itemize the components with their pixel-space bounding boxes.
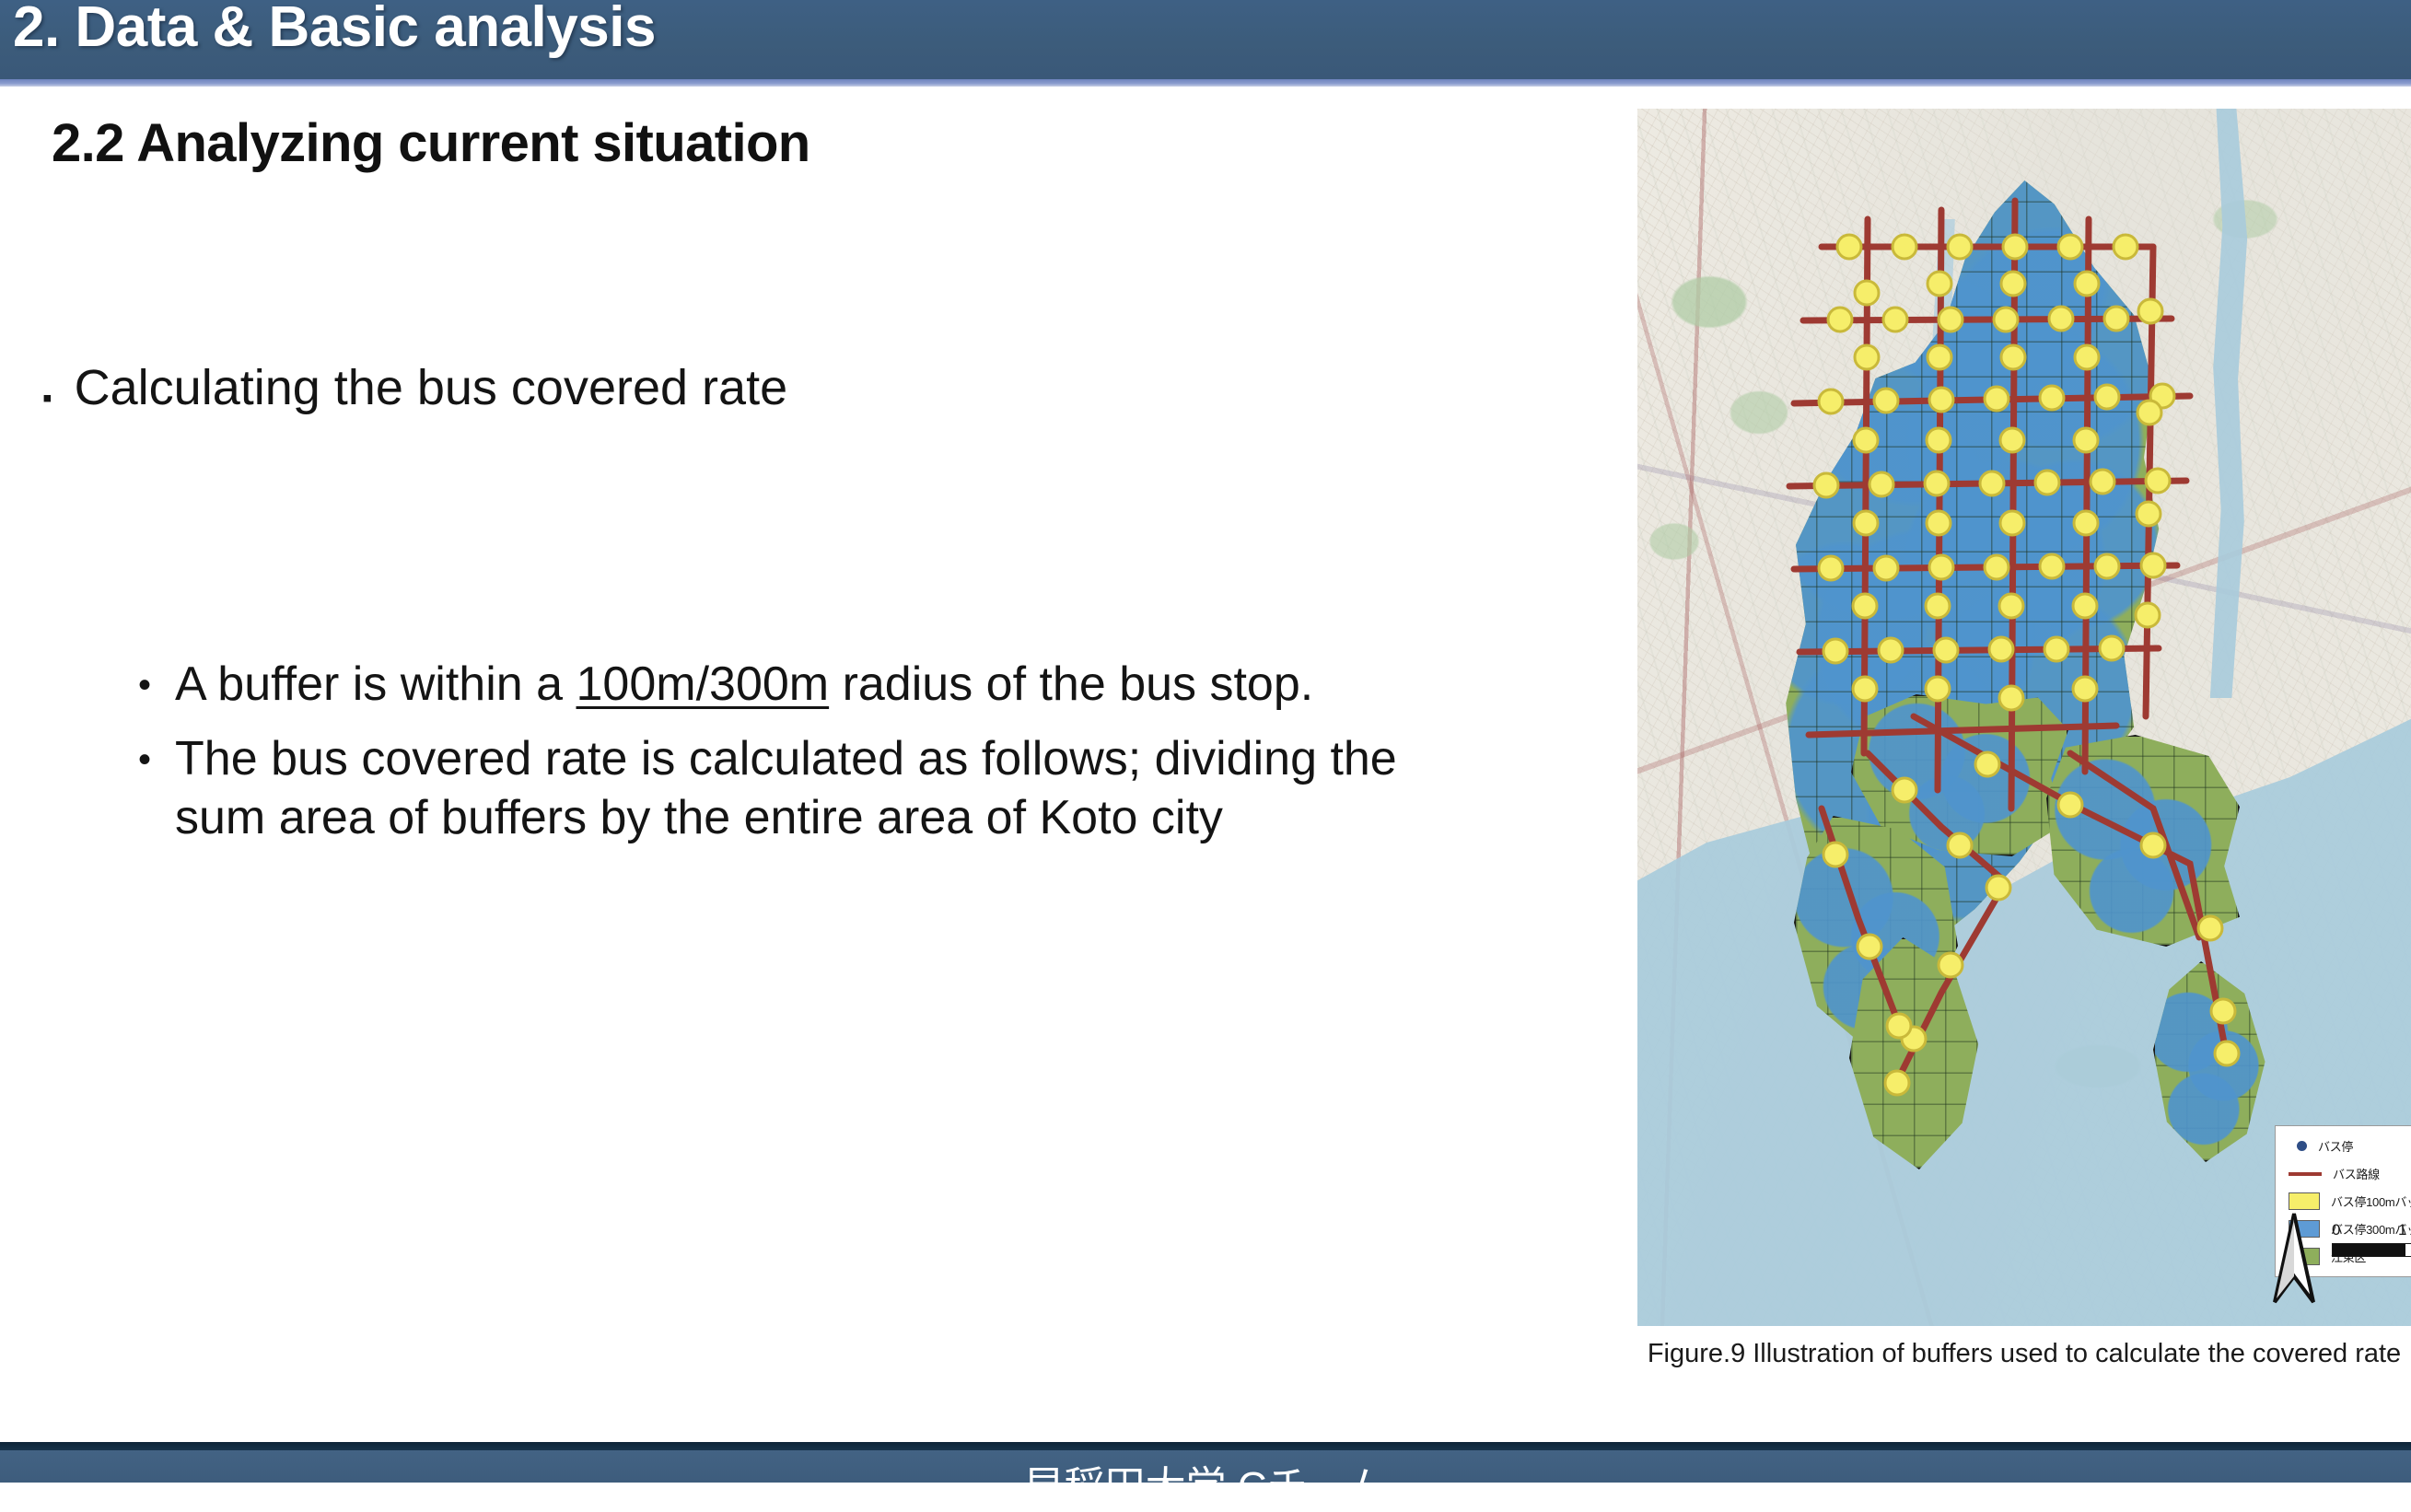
list-item: • The bus covered rate is calculated as … [138, 730, 1575, 847]
buffer-100m-swatch-icon [2289, 1192, 2320, 1210]
footer-label: 早稲田大学 Cチーム [0, 1453, 2411, 1512]
map-canvas: バス停 バス路線 バス停100mバッファ バス停300mバッファ 江東区 [1637, 109, 2411, 1326]
square-bullet-icon: ▪ [42, 385, 52, 413]
bus-route-line-icon [2289, 1172, 2322, 1176]
bullet-level1: ▪ Calculating the bus covered rate [42, 359, 787, 418]
north-arrow-icon [2273, 1210, 2315, 1306]
list-item: • A buffer is within a 100m/300m radius … [138, 656, 1575, 714]
header-accent-line [0, 79, 2411, 87]
sub-bullet-2-label: The bus covered rate is calculated as fo… [175, 730, 1492, 847]
map-scale-bar: 0 1 2 [2332, 1221, 2411, 1257]
sub-bullet-list: • A buffer is within a 100m/300m radius … [138, 656, 1575, 864]
bullet-level1-label: Calculating the bus covered rate [75, 359, 787, 418]
legend-label: バス路線 [2333, 1165, 2380, 1182]
legend-item-buffer-100m: バス停100mバッファ [2289, 1192, 2405, 1210]
legend-label: バス停100mバッファ [2331, 1192, 2411, 1210]
scale-tick-1: 1 [2398, 1221, 2406, 1239]
scale-tick-0: 0 [2332, 1221, 2340, 1239]
scale-block [2333, 1244, 2405, 1256]
figure-map: バス停 バス路線 バス停100mバッファ バス停300mバッファ 江東区 [1637, 109, 2411, 1326]
slide-content: 2.2 Analyzing current situation ▪ Calcul… [0, 92, 1639, 1418]
legend-label: バス停 [2318, 1137, 2353, 1155]
round-bullet-icon: • [138, 667, 151, 704]
footer-top-line [0, 1442, 2411, 1450]
scale-tick-labels: 0 1 2 [2332, 1221, 2411, 1243]
legend-item-bus-stop: バス停 [2289, 1137, 2405, 1155]
round-bullet-icon: • [138, 741, 151, 778]
page-title: 2. Data & Basic analysis [13, 0, 656, 60]
scale-bar-blocks [2332, 1243, 2411, 1257]
sub-bullet-1-pre: A buffer is within a [175, 657, 577, 711]
sub-bullet-1-underlined: 100m/300m [577, 657, 830, 711]
section-subheading: 2.2 Analyzing current situation [52, 112, 810, 174]
sub-bullet-1-post: radius of the bus stop. [829, 657, 1313, 711]
legend-item-bus-route: バス路線 [2289, 1165, 2405, 1182]
scale-block [2405, 1244, 2411, 1256]
bus-stop-point-icon [2297, 1141, 2307, 1151]
figure-caption: Figure.9 Illustration of buffers used to… [1637, 1337, 2411, 1372]
sub-bullet-1-label: A buffer is within a 100m/300m radius of… [175, 656, 1313, 714]
